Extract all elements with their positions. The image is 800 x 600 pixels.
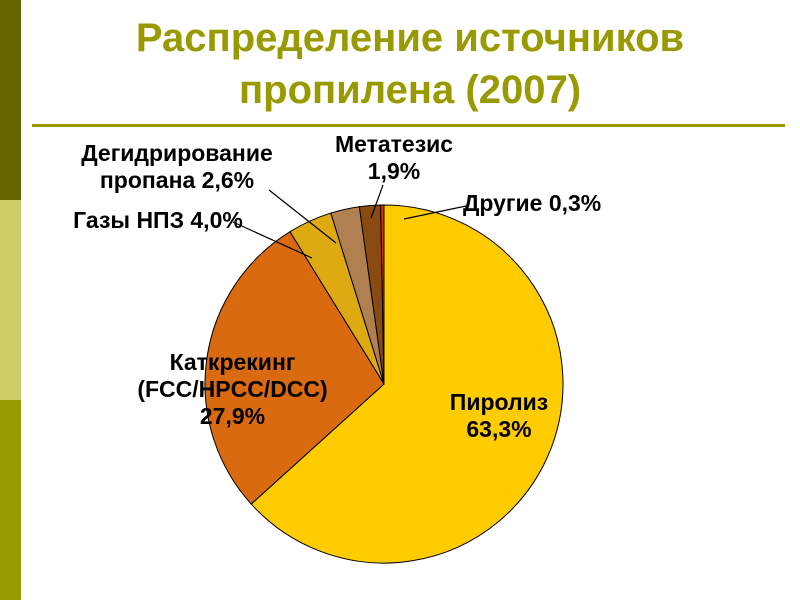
label-cat-cracking: Каткрекинг (FCC/HPCC/DCC) 27,9% [110, 349, 355, 430]
label-refinery-gas: Газы НПЗ 4,0% [42, 207, 274, 234]
label-dehydrogenation: Дегидрирование пропана 2,6% [52, 140, 302, 194]
label-metathesis: Метатезис 1,9% [312, 131, 476, 185]
label-pyrolysis: Пиролиз 63,3% [404, 389, 594, 443]
pie-chart-svg [0, 0, 800, 600]
slide-canvas: Распределение источников пропилена (2007… [0, 0, 800, 600]
pie-chart [0, 0, 800, 600]
label-other: Другие 0,3% [463, 190, 673, 217]
